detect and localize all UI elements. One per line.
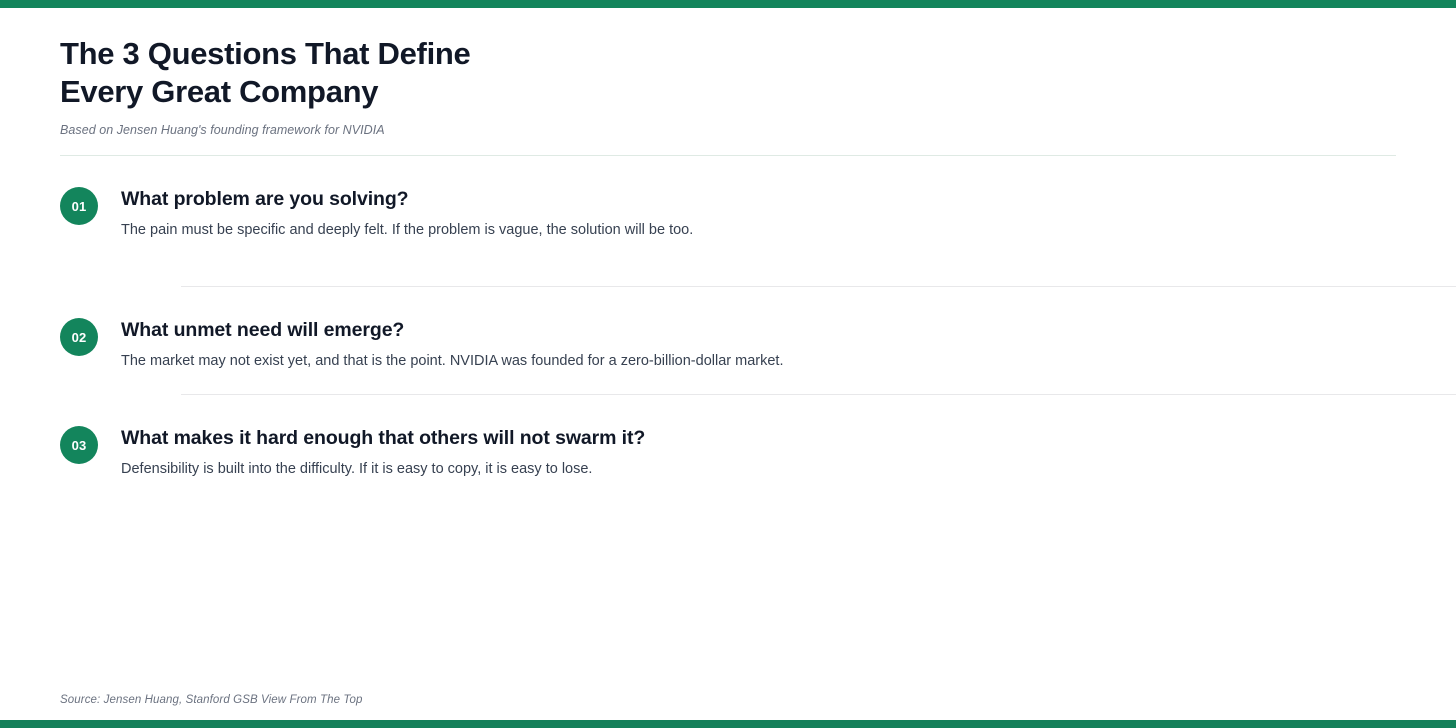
question-description: The pain must be specific and deeply fel… (121, 220, 1396, 240)
question-body: What makes it hard enough that others wi… (121, 426, 1396, 479)
question-number-badge: 01 (60, 187, 98, 225)
infographic-page: The 3 Questions That Define Every Great … (0, 0, 1456, 728)
bottom-accent-bar (0, 720, 1456, 728)
list-item: 01 What problem are you solving? The pai… (60, 156, 1396, 240)
source-citation: Source: Jensen Huang, Stanford GSB View … (60, 694, 362, 706)
questions-list: 01 What problem are you solving? The pai… (60, 156, 1396, 479)
list-item: 02 What unmet need will emerge? The mark… (60, 287, 1396, 371)
header: The 3 Questions That Define Every Great … (60, 8, 1396, 137)
content-area: The 3 Questions That Define Every Great … (0, 8, 1456, 720)
question-body: What unmet need will emerge? The market … (121, 318, 1396, 371)
question-body: What problem are you solving? The pain m… (121, 187, 1396, 240)
question-title: What problem are you solving? (121, 187, 1396, 211)
list-item: 03 What makes it hard enough that others… (60, 395, 1396, 479)
question-title: What makes it hard enough that others wi… (121, 426, 1396, 450)
top-accent-bar (0, 0, 1456, 8)
page-subtitle: Based on Jensen Huang's founding framewo… (60, 123, 1396, 137)
question-title: What unmet need will emerge? (121, 318, 1396, 342)
question-description: Defensibility is built into the difficul… (121, 459, 1396, 479)
question-number-badge: 03 (60, 426, 98, 464)
question-number-badge: 02 (60, 318, 98, 356)
question-description: The market may not exist yet, and that i… (121, 351, 1396, 371)
page-title: The 3 Questions That Define Every Great … (60, 35, 1396, 111)
